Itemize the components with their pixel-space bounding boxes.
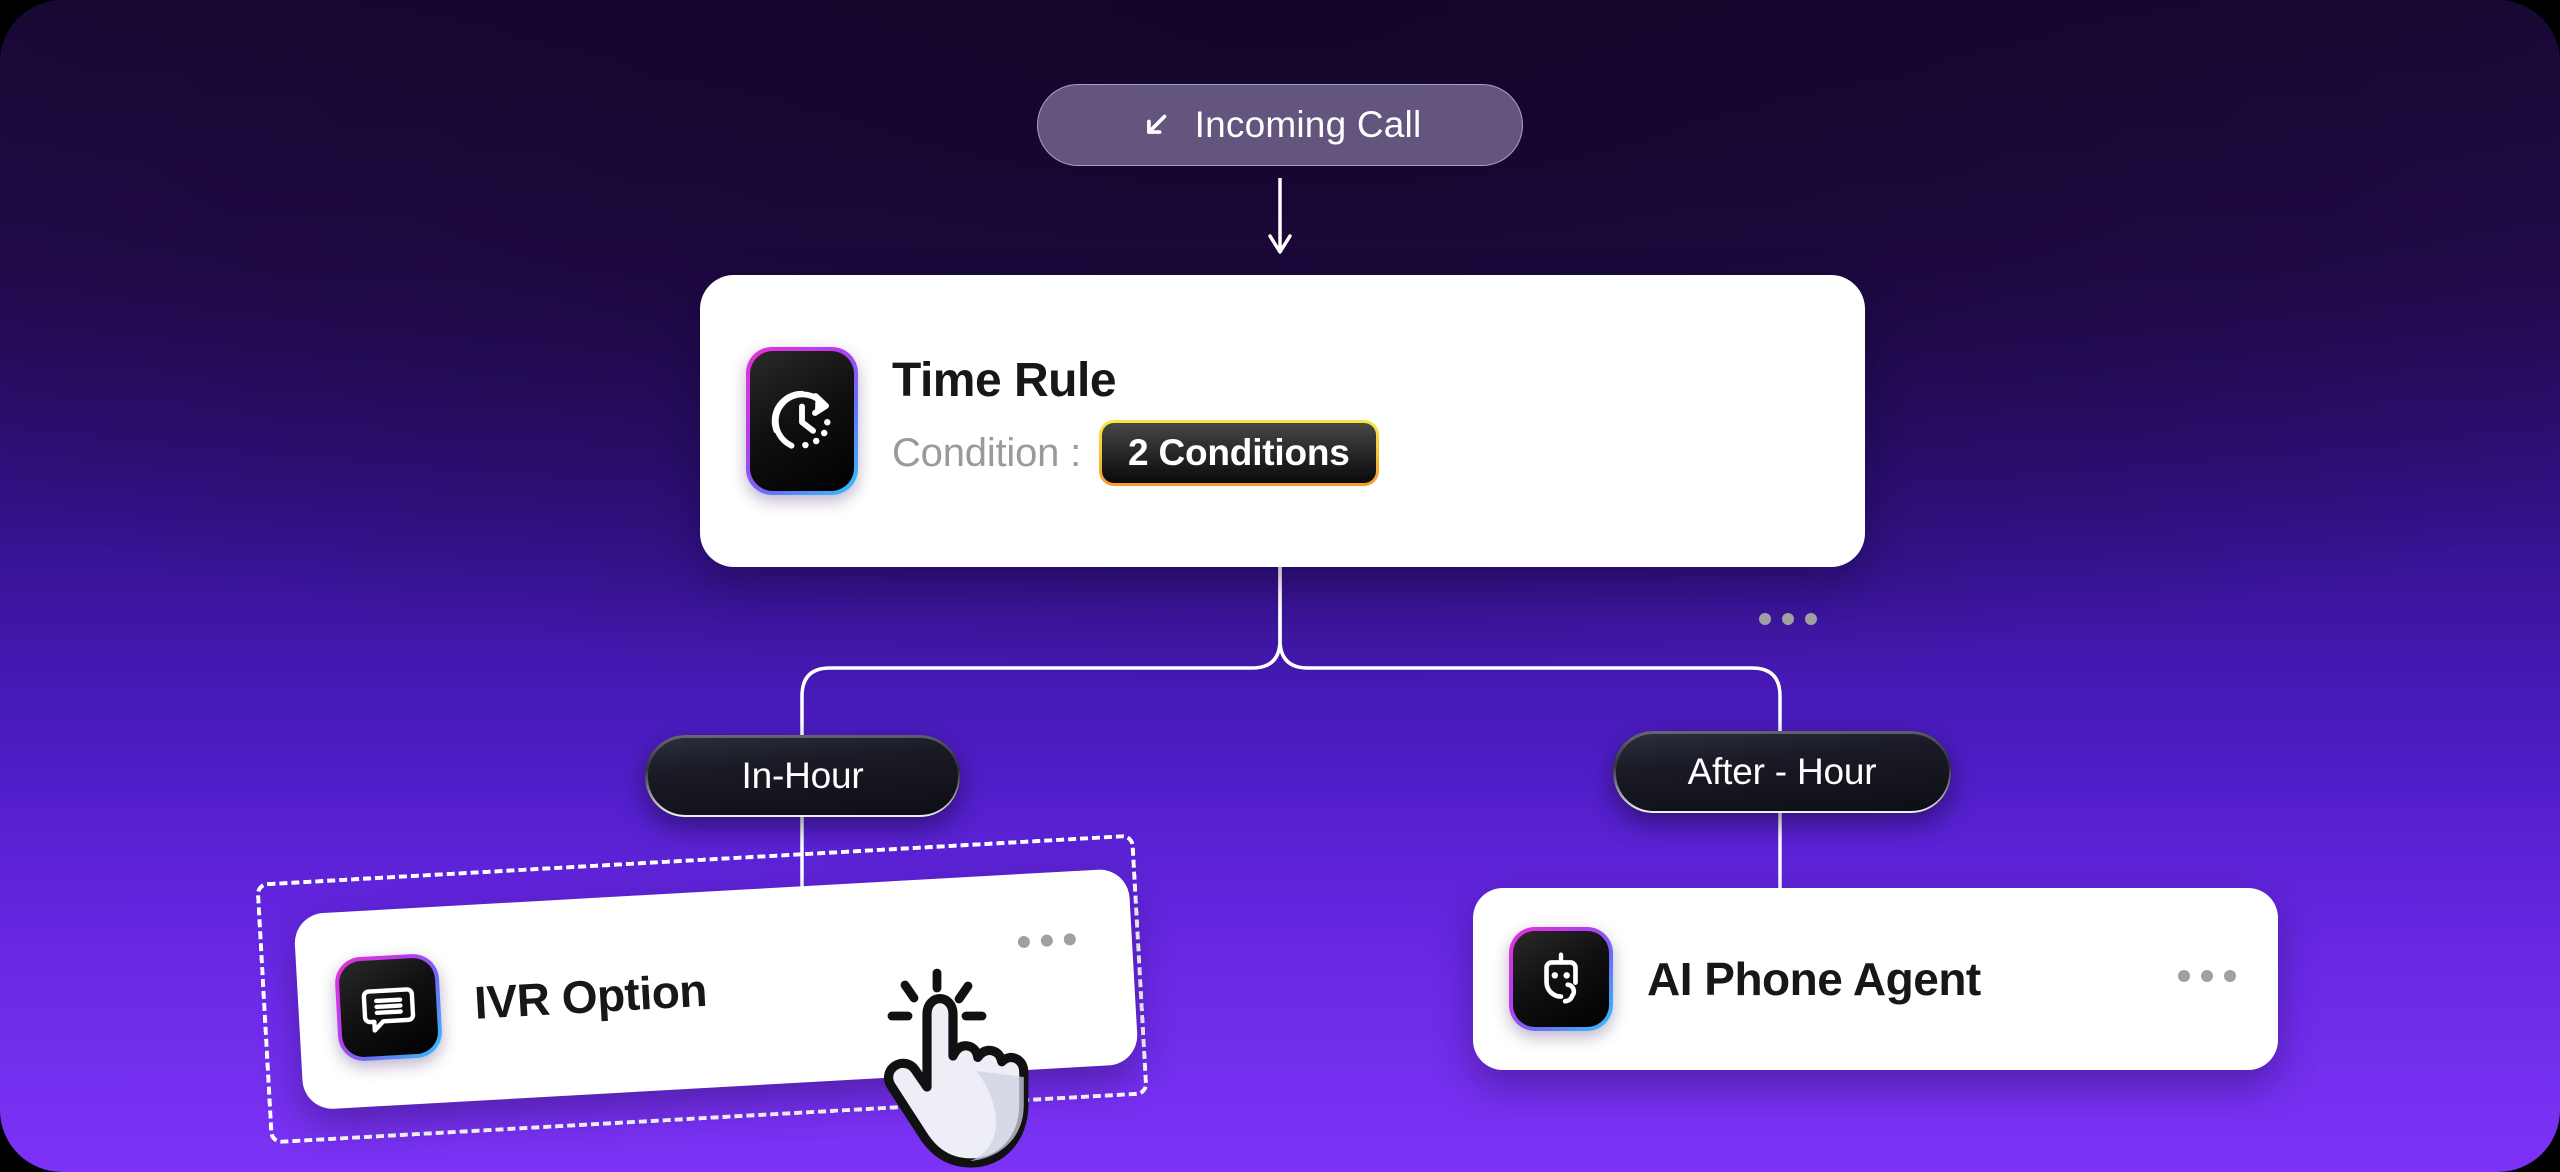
condition-count-badge[interactable]: 2 Conditions (1099, 420, 1379, 486)
ai-agent-text-block: AI Phone Agent (1647, 955, 1981, 1003)
ivr-text-block: IVR Option (473, 966, 708, 1027)
kebab-dot (1018, 936, 1031, 949)
kebab-menu-icon-time-rule[interactable] (1759, 613, 1817, 625)
trigger-label: Incoming Call (1195, 104, 1422, 146)
clock-history-icon (746, 347, 858, 495)
kebab-dot (2224, 970, 2236, 982)
trigger-incoming-call[interactable]: Incoming Call (1037, 84, 1523, 166)
branch-label-text: In-Hour (742, 755, 864, 797)
kebab-dot (1759, 613, 1771, 625)
arrow-down-left-icon (1139, 108, 1173, 142)
node-card-time-rule[interactable]: Time Rule Condition : 2 Conditions (700, 275, 1865, 567)
condition-row: Condition : 2 Conditions (892, 420, 1379, 486)
flow-canvas: Incoming Call (0, 0, 2560, 1172)
branch-label-after-hour[interactable]: After - Hour (1613, 731, 1951, 813)
node-title-time-rule: Time Rule (892, 356, 1379, 406)
condition-label: Condition : (892, 431, 1081, 476)
kebab-dot (2178, 970, 2190, 982)
kebab-dot (1782, 613, 1794, 625)
kebab-dot (1041, 934, 1054, 947)
node-title-ivr-option: IVR Option (473, 966, 708, 1027)
kebab-dot (1063, 933, 1076, 946)
node-card-ai-phone-agent[interactable]: AI Phone Agent (1473, 888, 2278, 1070)
chat-message-icon (334, 953, 444, 1063)
kebab-menu-icon-ivr-option[interactable] (1018, 933, 1077, 948)
branch-label-text: After - Hour (1688, 751, 1877, 793)
node-ivr-option-wrapper: IVR Option (255, 834, 1148, 1145)
kebab-dot (2201, 970, 2213, 982)
kebab-menu-icon-ai-phone-agent[interactable] (2178, 970, 2236, 982)
kebab-dot (1805, 613, 1817, 625)
node-title-ai-phone-agent: AI Phone Agent (1647, 955, 1981, 1003)
robot-face-icon (1509, 927, 1613, 1031)
branch-label-in-hour[interactable]: In-Hour (645, 735, 960, 817)
time-rule-text-block: Time Rule Condition : 2 Conditions (892, 356, 1379, 486)
